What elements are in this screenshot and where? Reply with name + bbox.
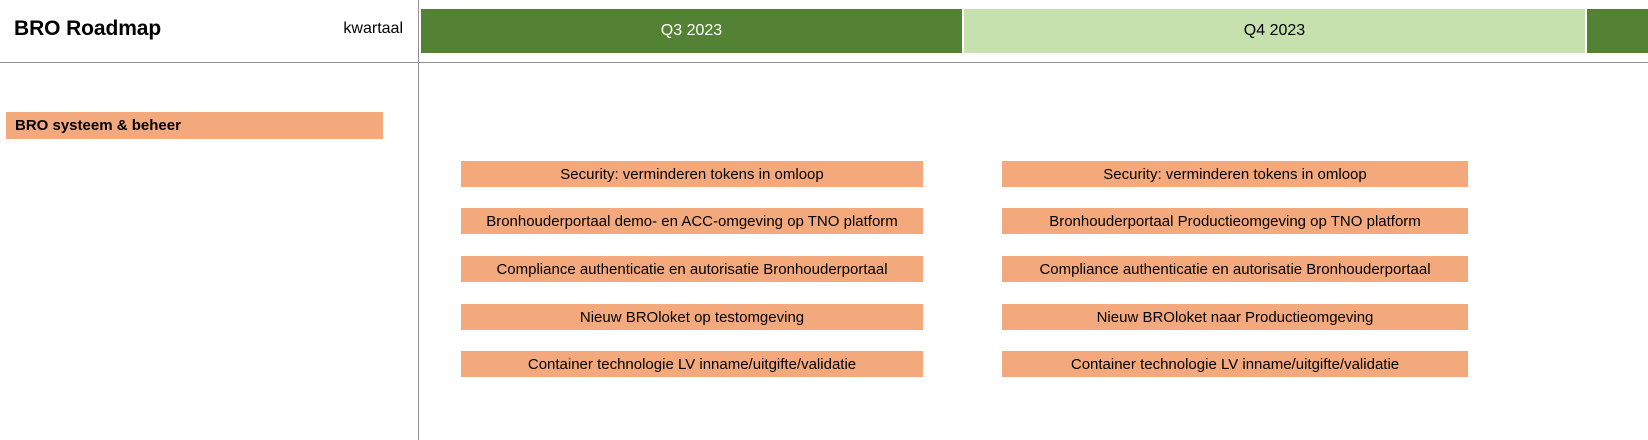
task-bar-label: Container technologie LV inname/uitgifte… bbox=[528, 356, 856, 373]
timeline-quarter-header[interactable]: Q4 2023 bbox=[964, 9, 1585, 53]
task-bar[interactable]: Bronhouderportaal demo- en ACC-omgeving … bbox=[461, 208, 923, 234]
task-bar-label: Compliance authenticatie en autorisatie … bbox=[496, 261, 887, 278]
timeline-quarter-label: Q3 2023 bbox=[661, 22, 722, 40]
task-bar-label: Compliance authenticatie en autorisatie … bbox=[1039, 261, 1430, 278]
header-divider bbox=[0, 62, 1648, 63]
task-bar[interactable]: Compliance authenticatie en autorisatie … bbox=[461, 256, 923, 282]
task-bar-label: Bronhouderportaal Productieomgeving op T… bbox=[1049, 213, 1421, 230]
task-bar[interactable]: Container technologie LV inname/uitgifte… bbox=[1002, 351, 1468, 377]
task-bar[interactable]: Nieuw BROloket naar Productieomgeving bbox=[1002, 304, 1468, 330]
task-bar[interactable]: Bronhouderportaal Productieomgeving op T… bbox=[1002, 208, 1468, 234]
roadmap-canvas: BRO Roadmap kwartaal Q3 2023Q4 2023 BRO … bbox=[0, 0, 1648, 440]
task-bar-label: Security: verminderen tokens in omloop bbox=[560, 166, 823, 183]
task-bar-label: Security: verminderen tokens in omloop bbox=[1103, 166, 1366, 183]
swimlane-label[interactable]: BRO systeem & beheer bbox=[6, 112, 383, 139]
timeline-unit-label: kwartaal bbox=[243, 20, 403, 38]
task-bar[interactable]: Container technologie LV inname/uitgifte… bbox=[461, 351, 923, 377]
page-title: BRO Roadmap bbox=[14, 17, 161, 41]
lane-column-divider bbox=[418, 0, 419, 440]
task-bar-label: Nieuw BROloket op testomgeving bbox=[580, 309, 804, 326]
task-bar-label: Bronhouderportaal demo- en ACC-omgeving … bbox=[486, 213, 898, 230]
task-bar[interactable]: Security: verminderen tokens in omloop bbox=[461, 161, 923, 187]
timeline-quarter-header[interactable] bbox=[1587, 9, 1648, 53]
task-bar[interactable]: Compliance authenticatie en autorisatie … bbox=[1002, 256, 1468, 282]
task-bar[interactable]: Security: verminderen tokens in omloop bbox=[1002, 161, 1468, 187]
task-bar[interactable]: Nieuw BROloket op testomgeving bbox=[461, 304, 923, 330]
timeline-quarter-label: Q4 2023 bbox=[1244, 22, 1305, 40]
task-bar-label: Nieuw BROloket naar Productieomgeving bbox=[1097, 309, 1374, 326]
task-bar-label: Container technologie LV inname/uitgifte… bbox=[1071, 356, 1399, 373]
timeline-quarter-header[interactable]: Q3 2023 bbox=[421, 9, 962, 53]
swimlane-label-text: BRO systeem & beheer bbox=[15, 117, 181, 134]
